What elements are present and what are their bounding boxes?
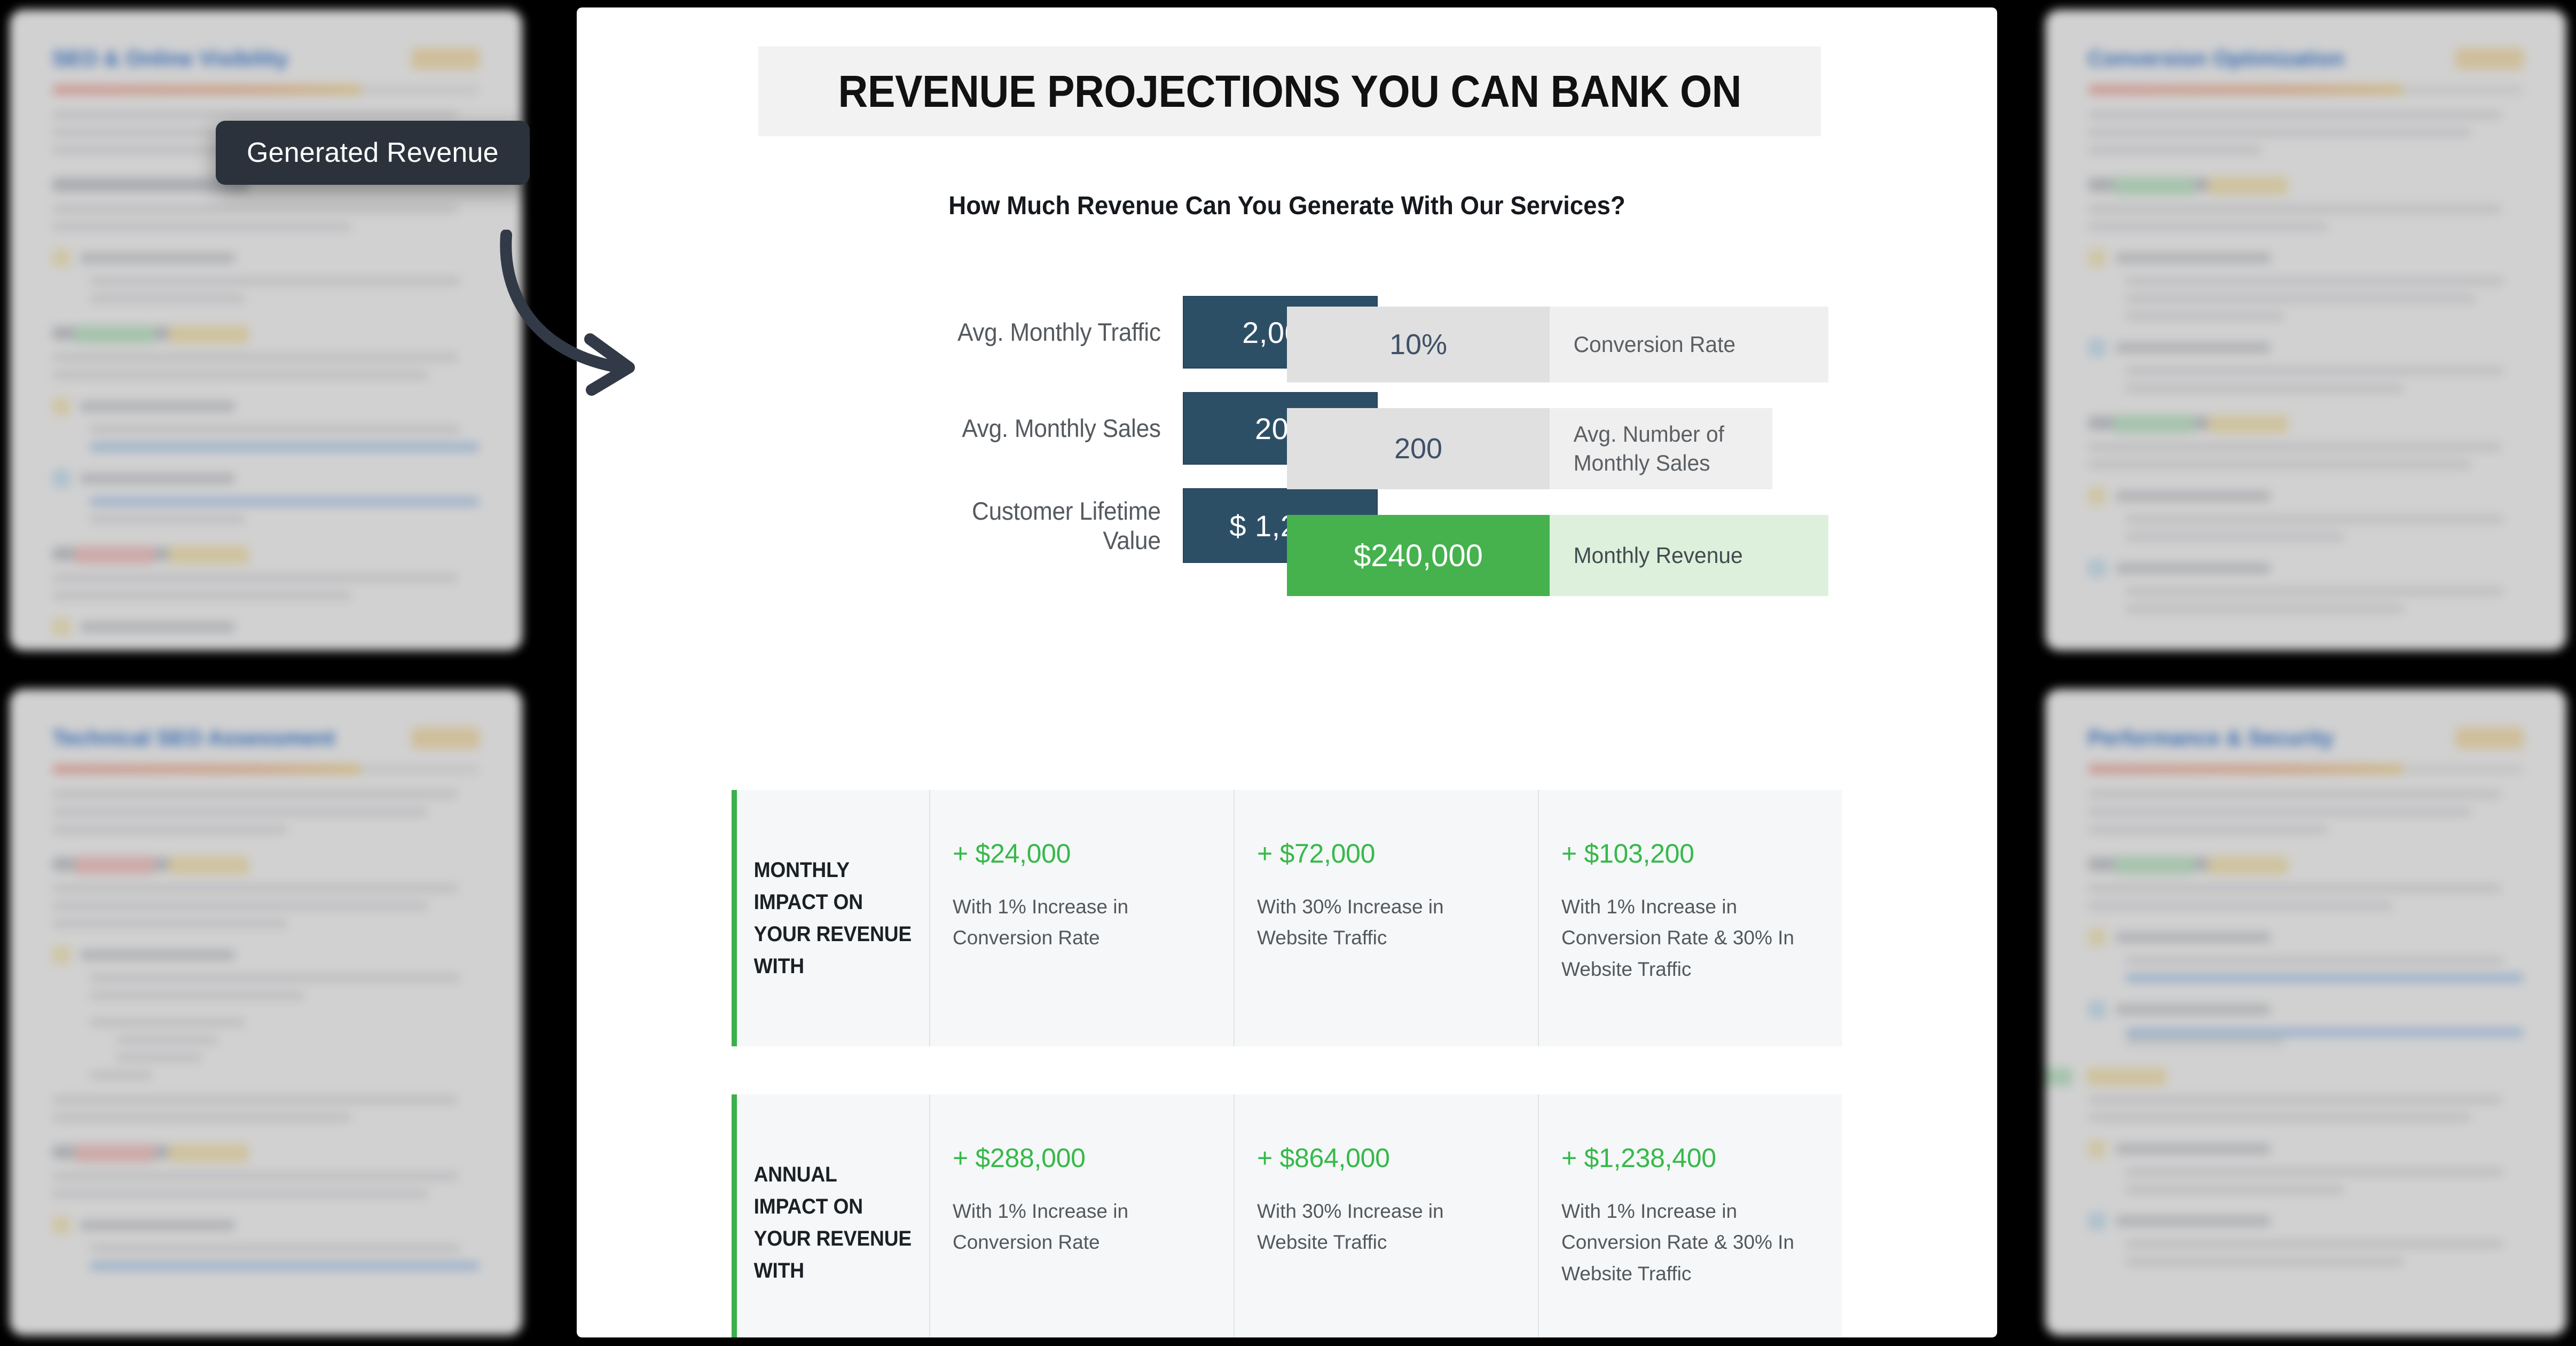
input-label-monthly-traffic: Avg. Monthly Traffic [957, 317, 1183, 347]
outputs-group: 10% Conversion Rate 200 Avg. Number of M… [1287, 307, 1837, 596]
background-report-card-top-left: SEO & Online Visibility [10, 10, 522, 651]
calculator-body: Avg. Monthly Traffic 2,000 Avg. Monthly … [577, 296, 1997, 595]
impact-description: With 1% Increase in Conversion Rate [953, 891, 1207, 954]
page-title: REVENUE PROJECTIONS YOU CAN BANK ON [838, 66, 1741, 118]
page-subtitle: How Much Revenue Can You Generate With O… [612, 191, 1962, 221]
report-badge [2455, 727, 2524, 749]
output-value-avg-monthly-sales: 200 [1287, 408, 1550, 489]
impact-amount: + $1,238,400 [1561, 1142, 1816, 1173]
inputs-group: Avg. Monthly Traffic 2,000 Avg. Monthly … [716, 296, 1378, 563]
input-row-customer-lifetime-value: Customer Lifetime Value $ 1,200 [716, 488, 1378, 563]
report-badge [411, 48, 480, 69]
impact-amount: + $864,000 [1257, 1142, 1511, 1173]
input-row-monthly-traffic: Avg. Monthly Traffic 2,000 [716, 296, 1378, 369]
monthly-impact-title: MONTHLY IMPACT ON YOUR REVENUE WITH [737, 790, 916, 1046]
impact-description: With 30% Increase in Website Traffic [1257, 891, 1511, 954]
impact-amount: + $288,000 [953, 1142, 1207, 1173]
background-report-card-bottom-left: Technical SEO Assessment [10, 689, 522, 1335]
input-label-customer-lifetime-value: Customer Lifetime Value [942, 496, 1183, 555]
generated-revenue-tooltip: Generated Revenue [216, 121, 530, 185]
output-label-monthly-revenue: Monthly Revenue [1550, 515, 1828, 596]
report-badge [411, 727, 480, 749]
output-value-conversion-rate: 10% [1287, 307, 1550, 382]
monthly-impact-col-traffic: + $72,000 With 30% Increase in Website T… [1234, 790, 1538, 1046]
annual-impact-title: ANNUAL IMPACT ON YOUR REVENUE WITH [737, 1094, 916, 1337]
annual-impact-col-conversion: + $288,000 With 1% Increase in Conversio… [929, 1094, 1234, 1337]
annual-impact-col-traffic: + $864,000 With 30% Increase in Website … [1234, 1094, 1538, 1337]
impact-description: With 1% Increase in Conversion Rate [953, 1196, 1207, 1258]
output-row-monthly-revenue: $240,000 Monthly Revenue [1287, 515, 1837, 596]
output-value-monthly-revenue: $240,000 [1287, 515, 1550, 596]
revenue-calculator-card: REVENUE PROJECTIONS YOU CAN BANK ON How … [577, 7, 1997, 1337]
report-badge [2455, 48, 2524, 69]
impact-description: With 1% Increase in Conversion Rate & 30… [1561, 891, 1816, 985]
output-label-conversion-rate: Conversion Rate [1550, 307, 1828, 382]
background-report-card-bottom-right: Performance & Security [2045, 689, 2566, 1335]
score-bar [52, 85, 480, 95]
output-row-conversion-rate: 10% Conversion Rate [1287, 307, 1837, 382]
input-label-monthly-sales: Avg. Monthly Sales [962, 413, 1183, 443]
monthly-impact-col-combined: + $103,200 With 1% Increase in Conversio… [1538, 790, 1842, 1046]
annual-impact-columns: + $288,000 With 1% Increase in Conversio… [929, 1094, 1842, 1337]
annual-impact-col-combined: + $1,238,400 With 1% Increase in Convers… [1538, 1094, 1842, 1337]
background-report-card-top-right: Conversion Optimization [2045, 10, 2566, 651]
output-row-avg-monthly-sales: 200 Avg. Number of Monthly Sales [1287, 408, 1837, 489]
score-bar [2088, 85, 2524, 95]
impact-amount: + $24,000 [953, 838, 1207, 869]
impact-description: With 1% Increase in Conversion Rate & 30… [1561, 1196, 1816, 1289]
impact-amount: + $72,000 [1257, 838, 1511, 869]
input-row-monthly-sales: Avg. Monthly Sales 200 [716, 392, 1378, 465]
impact-amount: + $103,200 [1561, 838, 1816, 869]
monthly-impact-col-conversion: + $24,000 With 1% Increase in Conversion… [929, 790, 1234, 1046]
title-banner: REVENUE PROJECTIONS YOU CAN BANK ON [758, 46, 1821, 136]
score-bar [52, 764, 480, 774]
monthly-impact-panel: MONTHLY IMPACT ON YOUR REVENUE WITH + $2… [732, 790, 1842, 1046]
output-label-avg-monthly-sales: Avg. Number of Monthly Sales [1550, 408, 1772, 489]
score-bar [2088, 764, 2524, 774]
impact-description: With 30% Increase in Website Traffic [1257, 1196, 1511, 1258]
annual-impact-panel: ANNUAL IMPACT ON YOUR REVENUE WITH + $28… [732, 1094, 1842, 1337]
monthly-impact-columns: + $24,000 With 1% Increase in Conversion… [929, 790, 1842, 1046]
